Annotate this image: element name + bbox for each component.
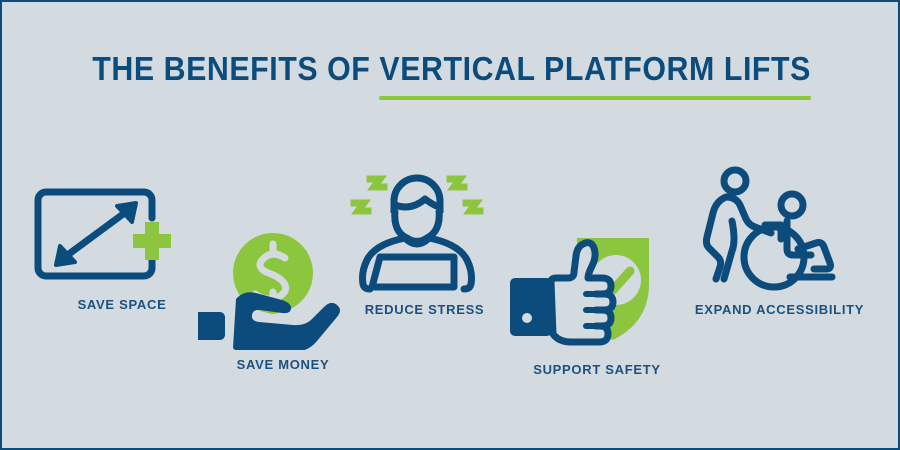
benefit-label-expand-accessibility: EXPAND ACCESSIBILITY: [692, 302, 867, 317]
benefit-item-expand-accessibility: EXPAND ACCESSIBILITY: [692, 165, 867, 317]
benefit-label-save-space: SAVE SPACE: [32, 297, 212, 312]
benefit-item-save-space: SAVE SPACE: [32, 170, 212, 312]
benefit-item-reduce-stress: REDUCE STRESS: [342, 165, 507, 317]
infographic-canvas: THE BENEFITS OF VERTICAL PLATFORM LIFTS …: [0, 0, 900, 450]
benefit-label-support-safety: SUPPORT SAFETY: [507, 362, 687, 377]
resize-square-plus-icon: [32, 170, 212, 290]
thumbs-up-shield-check-icon: [507, 230, 687, 355]
benefit-label-save-money: SAVE MONEY: [198, 357, 368, 372]
person-pushing-wheelchair-icon: [692, 165, 867, 295]
stressed-person-at-laptop-icon: [342, 165, 507, 295]
page-title: THE BENEFITS OF VERTICAL PLATFORM LIFTS: [2, 50, 900, 88]
benefit-item-support-safety: SUPPORT SAFETY: [507, 230, 687, 377]
page-title-plain-segment: THE BENEFITS OF: [93, 50, 380, 87]
page-title-underlined-segment: VERTICAL PLATFORM LIFTS: [380, 50, 812, 100]
benefit-label-reduce-stress: REDUCE STRESS: [342, 302, 507, 317]
